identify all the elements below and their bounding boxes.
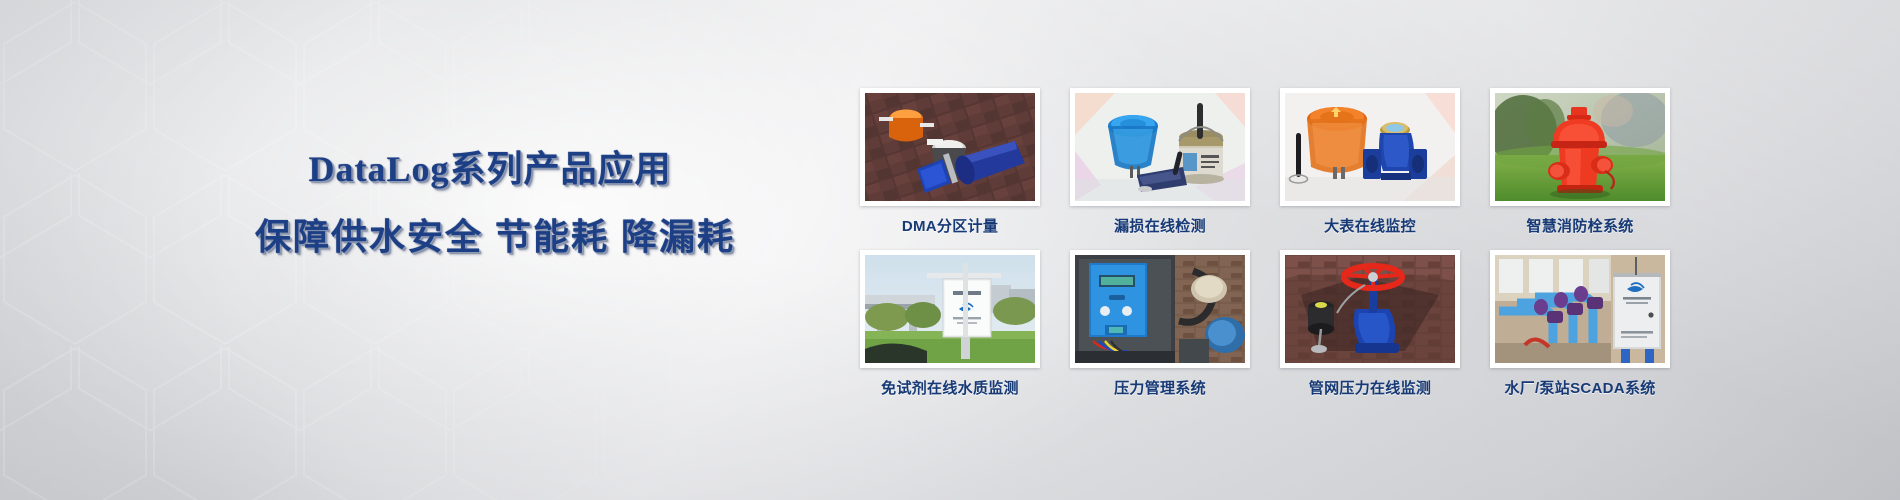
product-caption: 水厂/泵站SCADA系统	[1490, 377, 1670, 398]
product-card-pipeline-pressure-monitoring[interactable]: 管网压力在线监测	[1280, 250, 1460, 398]
scada-system-photo	[1495, 255, 1665, 363]
headline-line-2: 保障供水安全 节能耗 降漏耗	[255, 216, 725, 258]
thumbnail-frame	[1070, 250, 1250, 368]
product-caption: 压力管理系统	[1070, 377, 1250, 398]
product-caption: 漏损在线检测	[1070, 215, 1250, 236]
product-caption: DMA分区计量	[860, 215, 1040, 236]
leak-online-detection-photo	[1075, 93, 1245, 201]
product-thumbnail-grid: DMA分区计量	[860, 88, 1670, 398]
thumbnail-frame	[860, 88, 1040, 206]
product-card-smart-hydrant[interactable]: 智慧消防栓系统	[1490, 88, 1670, 236]
product-caption: 管网压力在线监测	[1280, 377, 1460, 398]
headline-block: DataLog系列产品应用 保障供水安全 节能耗 降漏耗	[255, 148, 725, 258]
headline-line-1: DataLog系列产品应用	[255, 148, 725, 190]
product-caption: 大表在线监控	[1280, 215, 1460, 236]
product-card-dma-zone-metering[interactable]: DMA分区计量	[860, 88, 1040, 236]
thumbnail-frame	[1490, 250, 1670, 368]
product-card-scada-system[interactable]: 水厂/泵站SCADA系统	[1490, 250, 1670, 398]
thumbnail-frame	[1280, 88, 1460, 206]
product-application-banner: DataLog系列产品应用 保障供水安全 节能耗 降漏耗	[0, 0, 1900, 500]
pipeline-pressure-monitoring-photo	[1285, 255, 1455, 363]
reagent-free-water-quality-photo	[865, 255, 1035, 363]
smart-hydrant-photo	[1495, 93, 1665, 201]
product-card-leak-online-detection[interactable]: 漏损在线检测	[1070, 88, 1250, 236]
product-caption: 智慧消防栓系统	[1490, 215, 1670, 236]
pressure-management-photo	[1075, 255, 1245, 363]
dma-zone-metering-photo	[865, 93, 1035, 201]
thumbnail-frame	[1280, 250, 1460, 368]
thumbnail-frame	[860, 250, 1040, 368]
large-meter-monitoring-photo	[1285, 93, 1455, 201]
thumbnail-frame	[1490, 88, 1670, 206]
product-card-pressure-management[interactable]: 压力管理系统	[1070, 250, 1250, 398]
product-caption: 免试剂在线水质监测	[860, 377, 1040, 398]
thumbnail-frame	[1070, 88, 1250, 206]
product-card-water-quality-monitoring[interactable]: 免试剂在线水质监测	[860, 250, 1040, 398]
product-card-large-meter-monitoring[interactable]: 大表在线监控	[1280, 88, 1460, 236]
